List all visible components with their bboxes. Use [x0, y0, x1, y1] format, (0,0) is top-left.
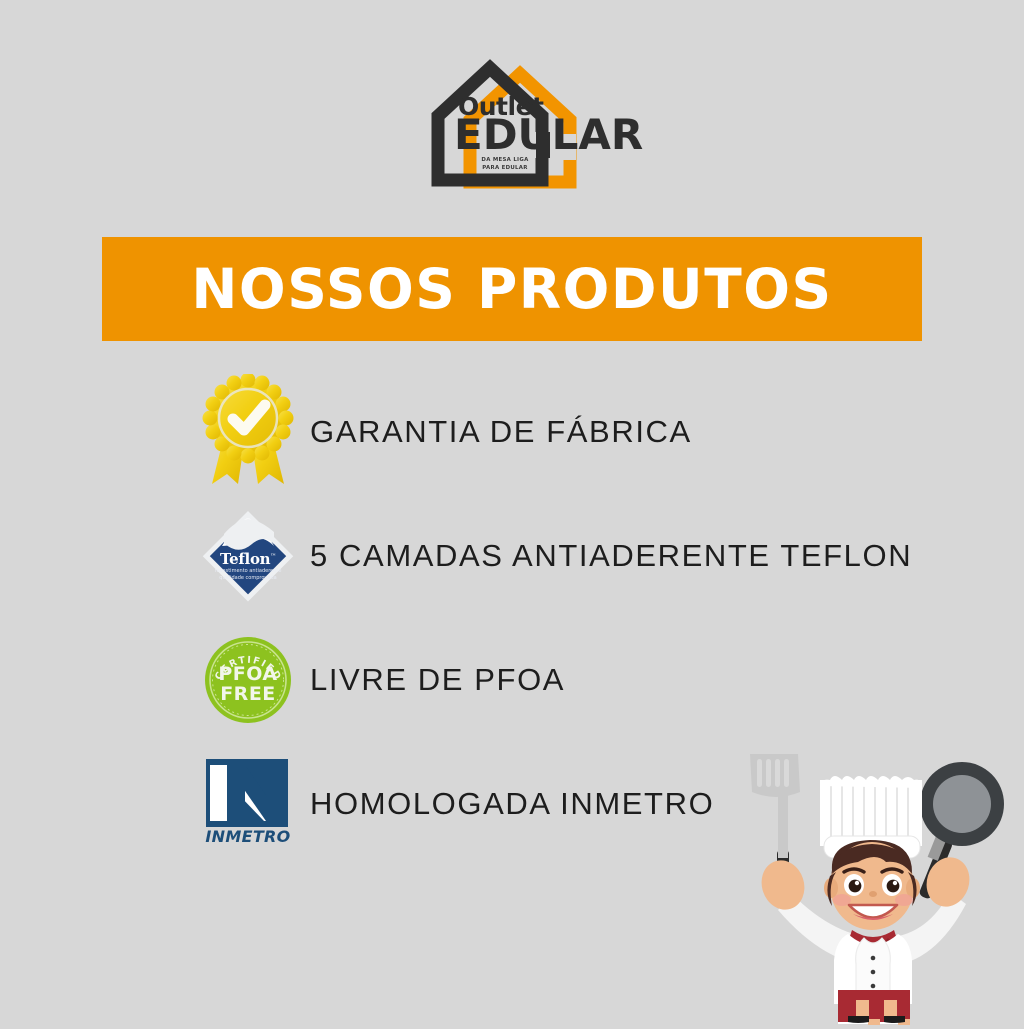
house-logo-icon [412, 48, 612, 198]
chef-character-illustration [736, 742, 1024, 1024]
feature-row-pfoa: CERTIFIED PFOA FREE LIVRE DE PFOA [198, 618, 958, 742]
brand-logo: Outlet EDULAR DA MESA LIGA PARA EDULAR [0, 48, 1024, 208]
pfoa-free-icon: CERTIFIED PFOA FREE [198, 622, 298, 738]
section-banner: NOSSOS PRODUTOS [102, 237, 922, 341]
feature-label-pfoa: LIVRE DE PFOA [310, 662, 565, 698]
feature-label-warranty: GARANTIA DE FÁBRICA [310, 414, 692, 450]
inmetro-wordmark: INMETRO [204, 827, 292, 846]
chef-shoes [736, 1000, 1024, 1024]
feature-label-inmetro: HOMOLOGADA INMETRO [310, 786, 714, 822]
banner-title: NOSSOS PRODUTOS [191, 262, 832, 317]
feature-label-teflon: 5 CAMADAS ANTIADERENTE TEFLON [310, 538, 912, 574]
feature-row-teflon: Teflon™ revestimento antiaderente qualid… [198, 494, 958, 618]
feature-row-warranty: GARANTIA DE FÁBRICA [198, 370, 958, 494]
inmetro-logo-icon: INMETRO [198, 746, 298, 862]
inmetro-square [206, 759, 288, 827]
award-ribbon-icon [198, 374, 298, 490]
teflon-logo-icon: Teflon™ revestimento antiaderente qualid… [198, 498, 298, 614]
promo-poster: Outlet EDULAR DA MESA LIGA PARA EDULAR N… [0, 0, 1024, 1024]
